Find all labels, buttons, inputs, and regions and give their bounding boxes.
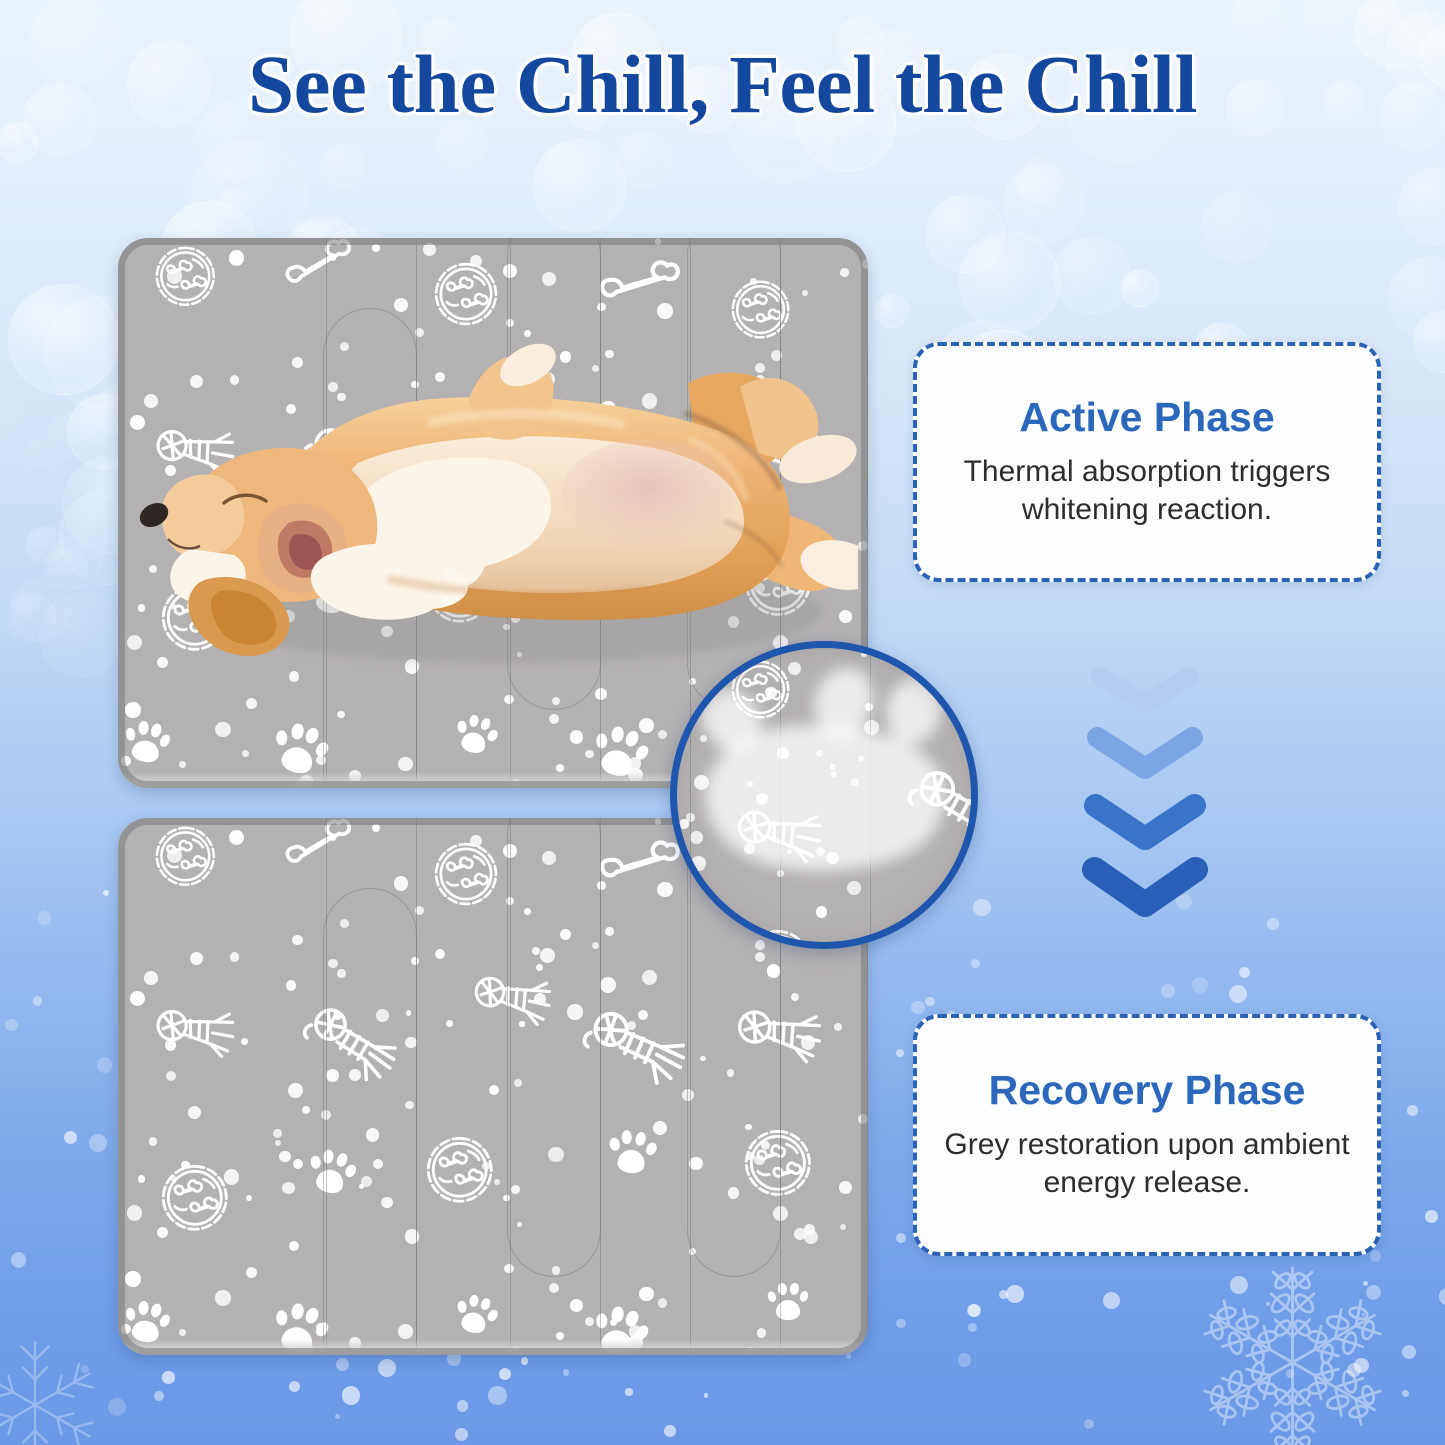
pattern-dot <box>411 957 419 965</box>
pattern-dot <box>627 1021 636 1030</box>
pattern-dot <box>567 1004 582 1019</box>
card-active-phase[interactable]: Active Phase Thermal absorption triggers… <box>913 342 1381 582</box>
pattern-dot <box>642 970 657 985</box>
pattern-dot <box>167 268 182 283</box>
pattern-dot <box>316 755 326 765</box>
pattern-dot <box>511 1346 520 1355</box>
pattern-dot <box>750 278 757 285</box>
pattern-dot <box>600 977 616 993</box>
pattern-dot <box>570 1299 583 1312</box>
paw-print-icon <box>303 1141 362 1200</box>
pattern-dot <box>130 991 145 1006</box>
pattern-dot <box>585 750 594 759</box>
chevron-down-icon-2 <box>1085 725 1205 788</box>
pattern-dot <box>689 1248 696 1255</box>
pattern-dot <box>224 1169 240 1185</box>
pattern-dot <box>302 1106 310 1114</box>
pattern-dot <box>405 1229 420 1244</box>
pattern-dot <box>595 688 607 700</box>
pattern-dot <box>372 244 380 252</box>
pattern-dot <box>542 851 556 865</box>
pattern-dot <box>273 1129 282 1138</box>
ball-with-bone-icon <box>742 1127 814 1204</box>
page-title: See the Chill, Feel the Chill <box>0 36 1445 132</box>
pattern-dot <box>834 1023 841 1030</box>
ball-with-bone-icon <box>153 244 218 314</box>
pattern-dot <box>241 1038 248 1045</box>
pattern-dot <box>532 947 540 955</box>
pattern-dot <box>149 1137 157 1145</box>
pattern-dot <box>286 980 296 990</box>
pattern-dot <box>802 290 808 296</box>
bone-icon <box>599 262 684 309</box>
pattern-dot <box>349 1069 361 1081</box>
pattern-dot <box>511 1185 520 1194</box>
pattern-dot <box>755 952 765 962</box>
pattern-dot <box>655 818 661 824</box>
pattern-dot <box>597 881 606 890</box>
pattern-dot <box>791 993 799 1001</box>
ball-with-bone-icon <box>432 260 500 333</box>
pattern-dot <box>292 935 303 946</box>
pattern-dot <box>394 876 409 891</box>
pattern-dot <box>548 1147 563 1162</box>
pattern-dot <box>840 268 848 276</box>
pattern-dot <box>728 1187 739 1198</box>
paw-print-icon <box>767 1280 810 1323</box>
card-body-recovery: Grey restoration upon ambient energy rel… <box>943 1126 1351 1202</box>
pattern-dot <box>540 948 555 963</box>
pattern-dot <box>398 757 413 772</box>
card-body-active: Thermal absorption triggers whitening re… <box>943 453 1351 529</box>
paw-print-icon <box>120 1294 175 1349</box>
pattern-dot <box>299 775 314 788</box>
pattern-dot <box>585 1317 594 1326</box>
pattern-dot <box>858 541 868 551</box>
pattern-dot <box>229 830 244 845</box>
pattern-dot <box>288 1083 303 1098</box>
ball-with-bone-icon <box>159 1162 231 1239</box>
pattern-dot <box>862 259 868 269</box>
infographic-canvas: See the Chill, Feel the Chill <box>0 0 1445 1445</box>
pattern-dot <box>506 897 514 905</box>
pattern-dot <box>504 695 513 704</box>
pattern-dot <box>519 1021 524 1026</box>
pattern-dot <box>511 779 520 788</box>
pattern-dot <box>524 908 531 915</box>
pattern-dot <box>536 964 543 971</box>
pattern-dot <box>405 1037 416 1048</box>
snowflake-icon <box>1185 1255 1400 1445</box>
ball-with-bone-icon <box>729 278 792 346</box>
rope-toy-icon <box>151 1005 245 1061</box>
pattern-dot <box>361 1176 372 1187</box>
pattern-dot <box>125 702 140 717</box>
pattern-dot <box>291 1352 299 1355</box>
pattern-dot <box>446 1020 453 1027</box>
snowflake-icon-small <box>0 1330 110 1445</box>
pattern-dot <box>179 761 186 768</box>
ball-with-bone-icon <box>153 824 218 894</box>
bone-icon <box>283 825 358 867</box>
pattern-dot <box>229 250 244 265</box>
pattern-dot <box>727 1069 734 1076</box>
pattern-dot <box>242 750 249 757</box>
pattern-dot <box>504 1264 513 1273</box>
pattern-dot <box>279 1151 291 1163</box>
pattern-dot <box>349 770 361 782</box>
magnifier-detail-circle[interactable] <box>670 641 978 949</box>
pattern-dot <box>373 1159 383 1169</box>
pattern-dot <box>337 969 346 978</box>
pattern-dot <box>331 835 336 840</box>
pattern-dot <box>340 919 349 928</box>
ball-with-bone-icon <box>424 1134 495 1210</box>
pattern-dot <box>289 1241 300 1252</box>
pattern-dot <box>190 952 203 965</box>
pattern-dot <box>657 882 673 898</box>
pattern-dot <box>127 1205 143 1221</box>
pattern-dot <box>682 1089 694 1101</box>
pattern-dot <box>423 243 436 256</box>
flow-arrows <box>1080 665 1210 915</box>
chevron-down-icon-3 <box>1082 792 1208 859</box>
pattern-dot <box>372 824 380 832</box>
pattern-dot <box>349 1337 361 1349</box>
pattern-dot <box>215 722 231 738</box>
paw-print-icon <box>605 1124 659 1178</box>
pattern-dot <box>657 303 673 319</box>
pattern-dot <box>689 1157 703 1171</box>
chevron-down-icon-4 <box>1080 855 1210 926</box>
pattern-dot <box>560 929 571 940</box>
pattern-dot <box>534 993 546 1005</box>
pattern-dot <box>858 1114 868 1124</box>
pattern-dot <box>801 1035 815 1049</box>
pattern-dot <box>658 1298 668 1308</box>
bone-icon <box>599 842 684 889</box>
pattern-dot <box>328 959 338 969</box>
pattern-dot <box>773 1206 788 1221</box>
pattern-dot <box>658 730 668 740</box>
pattern-dot <box>655 238 661 244</box>
ball-with-bone-icon <box>432 840 500 913</box>
pattern-dot <box>840 1224 846 1230</box>
sleeping-corgi <box>128 343 858 673</box>
pattern-dot <box>188 1106 202 1120</box>
pattern-dot <box>757 1328 766 1337</box>
pattern-dot <box>592 942 599 949</box>
pattern-dot <box>639 1287 653 1301</box>
pattern-dot <box>293 1159 303 1169</box>
pattern-dot <box>549 714 559 724</box>
pattern-dot <box>524 330 531 337</box>
pattern-dot <box>503 844 517 858</box>
pattern-dot <box>570 730 583 743</box>
pattern-dot <box>489 1085 499 1095</box>
pattern-dot <box>291 785 299 788</box>
pattern-dot <box>746 1347 754 1355</box>
paw-print-icon <box>267 715 336 784</box>
pattern-dot <box>552 697 560 705</box>
pattern-dot <box>653 1121 667 1135</box>
pattern-dot <box>506 319 514 327</box>
pattern-dot <box>435 949 445 959</box>
pattern-dot <box>597 303 606 312</box>
magnifier-content <box>670 641 978 949</box>
pattern-dot <box>246 1267 257 1278</box>
pattern-dot <box>514 1079 522 1087</box>
pattern-dot <box>639 718 653 732</box>
pattern-dot <box>767 964 780 977</box>
paw-print-icon <box>450 708 503 761</box>
pattern-dot <box>794 1228 806 1240</box>
pattern-dot <box>605 927 613 935</box>
paw-print-icon <box>450 1288 503 1341</box>
rope-toy-icon <box>732 1006 832 1066</box>
pattern-dot <box>144 971 158 985</box>
pattern-dot <box>246 698 257 709</box>
pattern-dot <box>839 1181 852 1194</box>
rope-bone-icon <box>582 1012 702 1089</box>
pattern-dot <box>165 1039 176 1050</box>
pattern-dot <box>494 1179 500 1185</box>
card-title-active: Active Phase <box>1019 396 1274 439</box>
pattern-dot <box>556 1332 564 1340</box>
card-title-recovery: Recovery Phase <box>989 1069 1306 1112</box>
magnifier-vignette <box>670 641 978 949</box>
pattern-dot <box>542 272 556 286</box>
pattern-dot <box>230 952 240 962</box>
pattern-dot <box>321 1110 331 1120</box>
pattern-dot <box>121 756 131 766</box>
pattern-dot <box>754 1155 764 1165</box>
pattern-dot <box>482 1162 490 1170</box>
pattern-dot <box>215 1290 231 1306</box>
pattern-dot <box>170 1175 176 1181</box>
pattern-dot <box>275 1140 281 1146</box>
pattern-dot <box>552 1266 560 1274</box>
pattern-dot <box>394 298 409 313</box>
pattern-dot <box>299 1343 314 1355</box>
pattern-dot <box>745 1124 751 1130</box>
bone-icon <box>283 245 358 287</box>
pattern-dot <box>138 1175 146 1183</box>
pattern-dot <box>415 906 425 916</box>
pattern-dot <box>282 1182 295 1195</box>
pattern-dot <box>549 1283 559 1293</box>
pattern-dot <box>556 764 564 772</box>
card-recovery-phase[interactable]: Recovery Phase Grey restoration upon amb… <box>913 1014 1381 1256</box>
pattern-dot <box>366 1128 380 1142</box>
rope-toy-icon <box>469 973 561 1029</box>
paw-print-icon <box>586 1297 655 1355</box>
pattern-dot <box>381 1197 392 1208</box>
pattern-dot <box>398 1324 413 1339</box>
pattern-dot <box>246 1195 252 1201</box>
pattern-dot <box>700 1056 705 1061</box>
pattern-dot <box>166 1071 176 1081</box>
pattern-dot <box>405 1101 414 1110</box>
chevron-down-icon-1 <box>1089 665 1201 722</box>
pattern-dot <box>415 328 425 338</box>
pattern-dot <box>503 264 517 278</box>
pattern-dot <box>517 1222 522 1227</box>
pattern-dot <box>337 711 345 719</box>
pattern-dot <box>125 1271 140 1286</box>
pattern-dot <box>503 1195 510 1202</box>
pattern-dot <box>179 1329 186 1336</box>
